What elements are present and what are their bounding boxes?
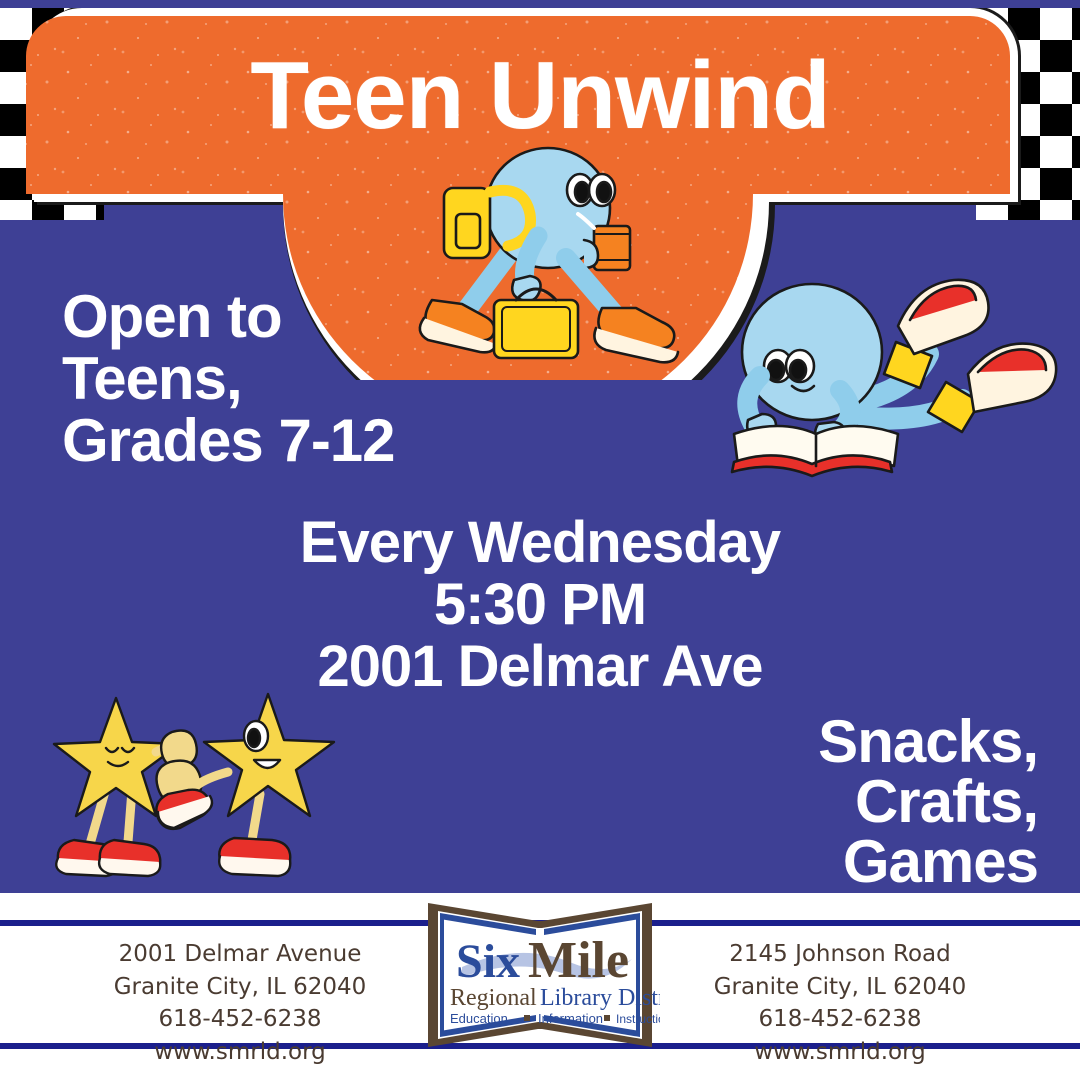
two-dancing-stars-icon — [48, 690, 348, 895]
poster-canvas: Teen Unwind — [0, 0, 1080, 1080]
branch-website[interactable]: www.smrld.org — [660, 1036, 1020, 1069]
activities-line-3: Games — [818, 832, 1038, 892]
activities-line-1: Snacks, — [818, 712, 1038, 772]
walking-octopus-with-backpack-icon — [398, 140, 688, 385]
branch-address-delmar: 2001 Delmar Avenue Granite City, IL 6204… — [60, 938, 420, 1069]
logo-word-mile: Mile — [528, 932, 629, 989]
branch-phone[interactable]: 618-452-6238 — [660, 1003, 1020, 1036]
audience-line-2: Teens, — [62, 348, 395, 410]
schedule-text: Every Wednesday 5:30 PM 2001 Delmar Ave — [0, 512, 1080, 698]
logo-tagline-education: Education — [450, 1011, 508, 1026]
logo-tagline-dot-2 — [604, 1015, 610, 1021]
branch-website[interactable]: www.smrld.org — [60, 1036, 420, 1069]
page-title: Teen Unwind — [0, 48, 1080, 144]
audience-line-3: Grades 7-12 — [62, 410, 395, 472]
branch-phone[interactable]: 618-452-6238 — [60, 1003, 420, 1036]
footer-bar: 2001 Delmar Avenue Granite City, IL 6204… — [0, 893, 1080, 1080]
branch-address-johnson: 2145 Johnson Road Granite City, IL 62040… — [660, 938, 1020, 1069]
activities-line-2: Crafts, — [818, 772, 1038, 832]
schedule-line-3: 2001 Delmar Ave — [0, 636, 1080, 698]
logo-tagline-information: Information — [538, 1011, 603, 1026]
branch-street: 2001 Delmar Avenue — [60, 938, 420, 971]
branch-city: Granite City, IL 62040 — [60, 971, 420, 1004]
logo-word-six: Six — [456, 935, 520, 988]
activities-text: Snacks, Crafts, Games — [818, 712, 1038, 892]
logo-word-regional: Regional — [450, 985, 537, 1011]
audience-text: Open to Teens, Grades 7-12 — [62, 286, 395, 471]
logo-word-library-district: Library District — [540, 985, 660, 1011]
branch-street: 2145 Johnson Road — [660, 938, 1020, 971]
schedule-line-2: 5:30 PM — [0, 574, 1080, 636]
smrld-logo[interactable]: Six Mile Regional Library District Educa… — [420, 895, 660, 1060]
top-purple-strip — [0, 0, 1080, 8]
reading-octopus-icon — [700, 262, 1070, 497]
logo-tagline-instruction: Instruction — [616, 1012, 660, 1026]
schedule-line-1: Every Wednesday — [0, 512, 1080, 574]
branch-city: Granite City, IL 62040 — [660, 971, 1020, 1004]
audience-line-1: Open to — [62, 286, 395, 348]
logo-tagline-dot-1 — [524, 1015, 530, 1021]
